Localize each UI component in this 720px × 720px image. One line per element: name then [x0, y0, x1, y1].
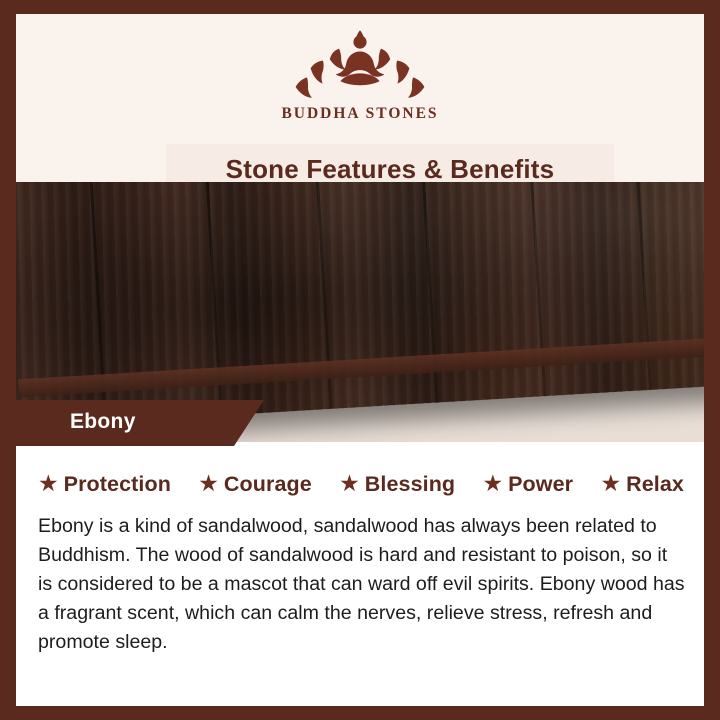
product-label-bar-slant — [234, 400, 264, 446]
benefit-label: Relax — [626, 472, 684, 497]
benefit-label: Courage — [224, 472, 312, 497]
content-section: ★ Protection ★ Courage ★ Blessing ★ Powe… — [16, 446, 704, 706]
star-icon: ★ — [339, 472, 360, 495]
frame-right-border — [704, 0, 720, 720]
benefit-item: ★ Protection — [38, 472, 171, 497]
benefit-label: Power — [508, 472, 573, 497]
benefit-item: ★ Courage — [198, 472, 312, 497]
product-label: Ebony — [70, 410, 136, 434]
header-section: BUDDHA STONES Stone Features & Benefits — [16, 14, 704, 182]
benefit-label: Blessing — [365, 472, 455, 497]
description-text: Ebony is a kind of sandalwood, sandalwoo… — [38, 512, 686, 657]
star-icon: ★ — [600, 472, 621, 495]
benefit-label: Protection — [64, 472, 171, 497]
frame-top-border — [0, 0, 720, 14]
star-icon: ★ — [482, 472, 503, 495]
infographic-page: BUDDHA STONES Stone Features & Benefits … — [0, 0, 720, 720]
benefits-row: ★ Protection ★ Courage ★ Blessing ★ Powe… — [38, 472, 684, 497]
brand-name: BUDDHA STONES — [281, 105, 438, 123]
brand-logo: BUDDHA STONES — [16, 28, 704, 123]
benefit-item: ★ Power — [482, 472, 573, 497]
lotus-meditation-icon — [276, 28, 444, 102]
wood-slab-main — [16, 182, 704, 430]
star-icon: ★ — [198, 472, 219, 495]
star-icon: ★ — [38, 472, 59, 495]
benefit-item: ★ Relax — [600, 472, 684, 497]
page-title: Stone Features & Benefits — [226, 154, 555, 185]
frame-bottom-border — [0, 706, 720, 720]
benefit-item: ★ Blessing — [339, 472, 455, 497]
frame-left-border — [0, 0, 16, 720]
